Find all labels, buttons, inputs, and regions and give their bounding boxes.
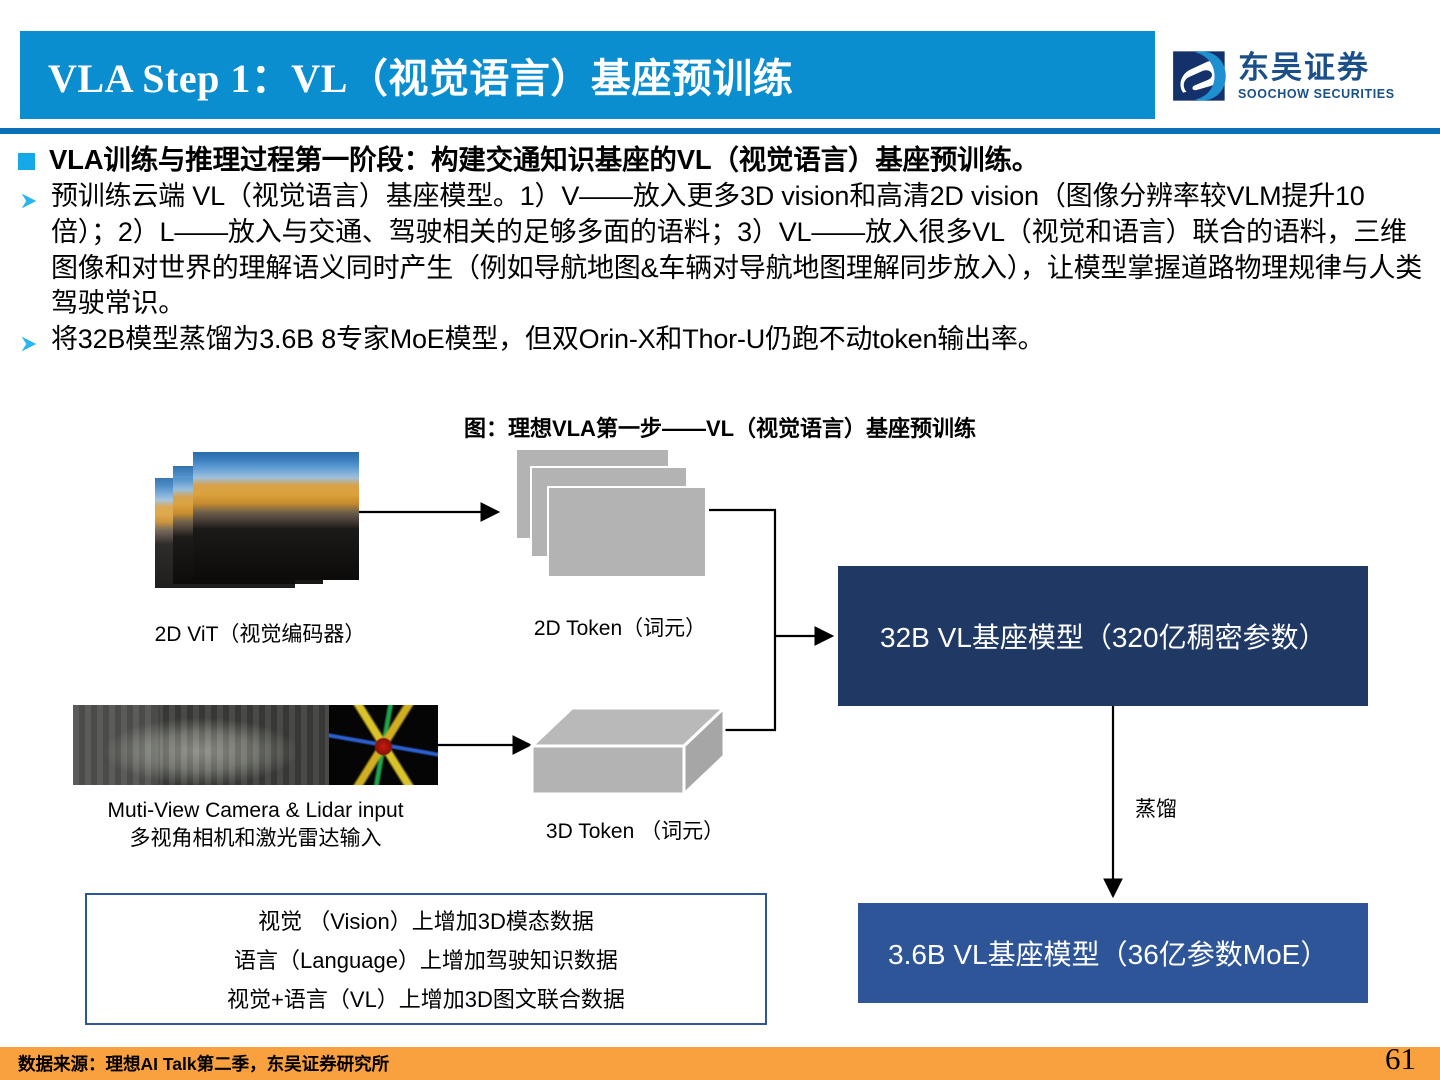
- bullet-level2-item: 预训练云端 VL（视觉语言）基座模型。1）V——放入更多3D vision和高清…: [18, 179, 1428, 322]
- distill-label: 蒸馏: [1135, 793, 1177, 823]
- arrow-bullet-icon: [18, 190, 40, 212]
- bullet-level2-item: 将32B模型蒸馏为3.6B 8专家MoE模型，但双Orin-X和Thor-U仍跑…: [18, 322, 1428, 358]
- slide-canvas: VLA Step 1：VL（视觉语言）基座预训练 东吴证券 SOOCHOW SE…: [0, 0, 1440, 1080]
- data-note-line: 视觉 （Vision）上增加3D模态数据: [258, 904, 594, 936]
- 2d-vit-image-stack: [155, 450, 365, 595]
- square-bullet-icon: [18, 153, 35, 170]
- 2d-token-label: 2D Token（词元）: [440, 612, 800, 642]
- logo-chinese-name: 东吴证券: [1238, 52, 1395, 83]
- bullet-level2-text: 预训练云端 VL（视觉语言）基座模型。1）V——放入更多3D vision和高清…: [51, 179, 1428, 322]
- 3d-token-label: 3D Token （词元）: [455, 815, 815, 845]
- page-number: 61: [1385, 1041, 1416, 1077]
- logo-text-block: 东吴证券 SOOCHOW SECURITIES: [1238, 52, 1395, 101]
- source-text: 数据来源：理想AI Talk第二季，东吴证券研究所: [18, 1051, 389, 1076]
- model-box-32b-label: 32B VL基座模型（320亿稠密参数）: [880, 616, 1327, 656]
- bullet-level1: VLA训练与推理过程第一阶段：构建交通知识基座的VL（视觉语言）基座预训练。: [18, 143, 1428, 177]
- data-note-line: 语言（Language）上增加驾驶知识数据: [234, 943, 618, 975]
- data-note-line: 视觉+语言（VL）上增加3D图文联合数据: [227, 982, 625, 1014]
- arrow-bullet-icon: [18, 333, 40, 355]
- model-box-36b-label: 3.6B VL基座模型（36亿参数MoE）: [888, 933, 1328, 973]
- bullet-level2-text: 将32B模型蒸馏为3.6B 8专家MoE模型，但双Orin-X和Thor-U仍跑…: [51, 322, 1044, 358]
- model-box-36b: 3.6B VL基座模型（36亿参数MoE）: [858, 903, 1368, 1003]
- 2d-token-stack: [515, 448, 725, 588]
- logo-english-name: SOOCHOW SECURITIES: [1238, 88, 1395, 101]
- bullet-list: VLA训练与推理过程第一阶段：构建交通知识基座的VL（视觉语言）基座预训练。 预…: [18, 143, 1428, 358]
- brand-logo: 东吴证券 SOOCHOW SECURITIES: [1172, 48, 1395, 104]
- header-bar: VLA Step 1：VL（视觉语言）基座预训练: [20, 31, 1155, 119]
- multiview-lidar-image: [73, 705, 438, 785]
- 3d-token-cuboid: [528, 698, 728, 803]
- camera-views: [73, 705, 329, 785]
- page-title: VLA Step 1：VL（视觉语言）基座预训练: [48, 46, 793, 104]
- figure-caption: 图：理想VLA第一步——VL（视觉语言）基座预训练: [0, 411, 1440, 443]
- header-divider: [0, 128, 1440, 134]
- model-box-32b: 32B VL基座模型（320亿稠密参数）: [838, 566, 1368, 706]
- soochow-logo-icon: [1172, 48, 1228, 104]
- lidar-pointcloud: [329, 705, 439, 785]
- multiview-label-cn: 多视角相机和激光雷达输入: [43, 826, 468, 852]
- 2d-vit-label: 2D ViT（视觉编码器）: [100, 618, 420, 648]
- multiview-label-en: Muti-View Camera & Lidar input: [43, 798, 468, 824]
- bullet-level1-text: VLA训练与推理过程第一阶段：构建交通知识基座的VL（视觉语言）基座预训练。: [49, 143, 1039, 177]
- data-augmentation-box: 视觉 （Vision）上增加3D模态数据 语言（Language）上增加驾驶知识…: [85, 893, 767, 1025]
